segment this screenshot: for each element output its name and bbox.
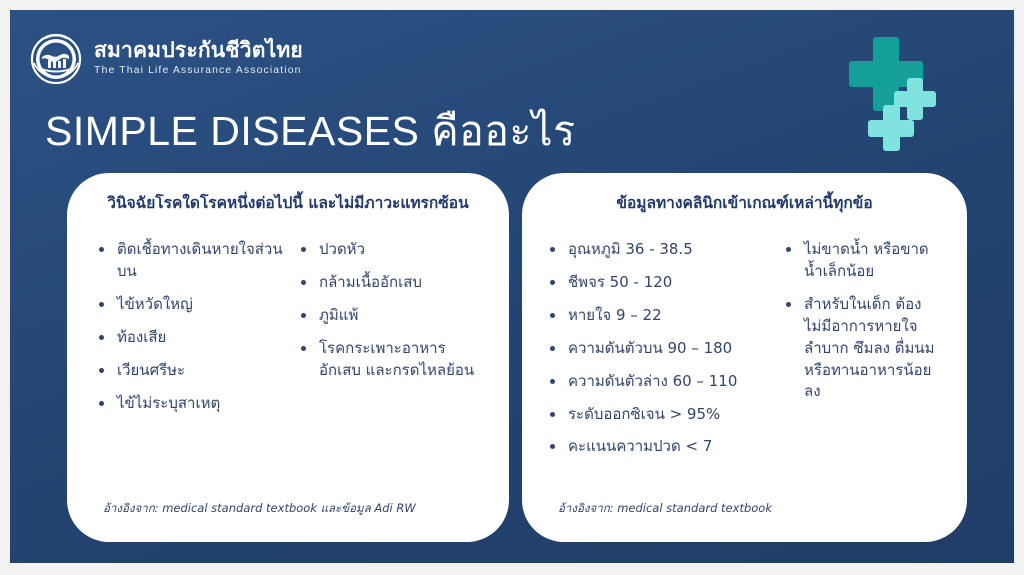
list-item: ติดเชื้อทางเดินหายใจส่วนบน <box>97 239 293 283</box>
list-item: อุณหภูมิ 36 - 38.5 <box>548 239 780 261</box>
list-item: ความดันตัวบน 90 – 180 <box>548 338 780 360</box>
list-item: ไข้หวัดใหญ่ <box>97 294 293 316</box>
org-name-thai: สมาคมประกันชีวิตไทย <box>94 40 303 61</box>
clinical-column-2: ไม่ขาดน้ำ หรือขาดน้ำเล็กน้อย สำหรับในเด็… <box>780 239 945 469</box>
diagnosis-column-1: ติดเชื้อทางเดินหายใจส่วนบน ไข้หวัดใหญ่ ท… <box>89 239 293 425</box>
list-item: โรคกระเพาะอาหารอักเสบ และกรดไหลย้อน <box>299 338 487 382</box>
slide-title: SIMPLE DISEASES คืออะไร <box>45 99 576 164</box>
list-item: ไข้ไม่ระบุสาเหตุ <box>97 393 293 415</box>
diagnosis-list-2: ปวดหัว กล้ามเนื้ออักเสบ ภูมิแพ้ โรคกระเพ… <box>299 239 487 381</box>
list-item: ปวดหัว <box>299 239 487 261</box>
list-item: ท้องเสีย <box>97 327 293 349</box>
list-item: ความดันตัวล่าง 60 – 110 <box>548 371 780 393</box>
clinical-list-2: ไม่ขาดน้ำ หรือขาดน้ำเล็กน้อย สำหรับในเด็… <box>784 239 945 403</box>
diagnosis-card: วินิจฉัยโรคใดโรคหนึ่งต่อไปนี้ และไม่มีภา… <box>67 173 509 542</box>
list-item: เวียนศรีษะ <box>97 360 293 382</box>
list-item: ระดับออกซิเจน > 95% <box>548 404 780 426</box>
diagnosis-card-footnote: อ้างอิงจาก: medical standard textbook แล… <box>103 500 416 518</box>
diagnosis-list-1: ติดเชื้อทางเดินหายใจส่วนบน ไข้หวัดใหญ่ ท… <box>97 239 293 414</box>
list-item: สำหรับในเด็ก ต้องไม่มีอาการหายใจลำบาก ซึ… <box>784 294 945 403</box>
slide-canvas: สมาคมประกันชีวิตไทย The Thai Life Assura… <box>10 10 1014 563</box>
list-item: ไม่ขาดน้ำ หรือขาดน้ำเล็กน้อย <box>784 239 945 283</box>
diagnosis-column-2: ปวดหัว กล้ามเนื้ออักเสบ ภูมิแพ้ โรคกระเพ… <box>293 239 487 425</box>
clinical-list-1: อุณหภูมิ 36 - 38.5 ชีพจร 50 - 120 หายใจ … <box>548 239 780 458</box>
clinical-criteria-card-title: ข้อมูลทางคลินิกเข้าเกณฑ์เหล่านี้ทุกข้อ <box>544 193 945 213</box>
list-item: กล้ามเนื้ออักเสบ <box>299 272 487 294</box>
diagnosis-card-title: วินิจฉัยโรคใดโรคหนึ่งต่อไปนี้ และไม่มีภา… <box>89 193 487 213</box>
clinical-criteria-card: ข้อมูลทางคลินิกเข้าเกณฑ์เหล่านี้ทุกข้อ อ… <box>522 173 967 542</box>
association-logo: สมาคมประกันชีวิตไทย The Thai Life Assura… <box>28 30 303 86</box>
globe-emblem-icon <box>28 30 84 86</box>
list-item: ชีพจร 50 - 120 <box>548 272 780 294</box>
clinical-column-1: อุณหภูมิ 36 - 38.5 ชีพจร 50 - 120 หายใจ … <box>544 239 780 469</box>
list-item: หายใจ 9 – 22 <box>548 305 780 327</box>
org-name-english: The Thai Life Assurance Association <box>94 65 303 76</box>
list-item: ภูมิแพ้ <box>299 305 487 327</box>
medical-cross-small-icon <box>868 105 914 151</box>
clinical-criteria-card-footnote: อ้างอิงจาก: medical standard textbook <box>558 500 772 518</box>
list-item: คะแนนความปวด < 7 <box>548 436 780 458</box>
